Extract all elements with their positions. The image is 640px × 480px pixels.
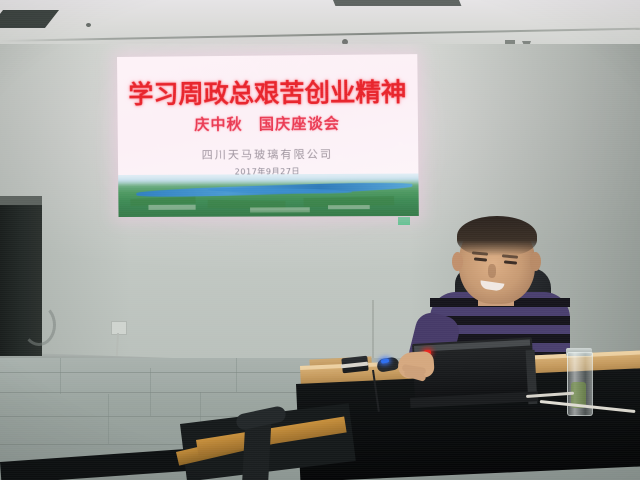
ceiling-vent-right-icon <box>331 0 462 6</box>
hair <box>457 216 537 256</box>
floor-plank-joint <box>60 358 61 394</box>
ear-right <box>530 252 541 271</box>
ceiling-mark <box>86 23 91 27</box>
floor-plank-joint <box>236 358 237 392</box>
photo-field-light <box>148 205 196 210</box>
cabinet-top-edge <box>0 196 42 205</box>
slide-company-name: 四川天马玻璃有限公司 <box>118 145 418 163</box>
slide-content: 学习周政总艰苦创业精神 庆中秋 国庆座谈会 四川天马玻璃有限公司 2017年9月… <box>117 54 419 217</box>
photo-scene: 学习周政总艰苦创业精神 庆中秋 国庆座谈会 四川天马玻璃有限公司 2017年9月… <box>0 0 640 480</box>
photo-field-light <box>328 205 370 209</box>
cabinet-ring-handle <box>22 304 56 346</box>
floor-plank-joint <box>108 394 109 444</box>
nose <box>488 264 496 278</box>
projection-screen: 学习周政总艰苦创业精神 庆中秋 国庆座谈会 四川天马玻璃有限公司 2017年9月… <box>117 54 419 217</box>
wall-seam <box>372 300 374 362</box>
photo-foreground <box>118 210 418 217</box>
green-wall-sticker <box>398 217 410 225</box>
slide-aerial-photo <box>118 173 419 217</box>
floor-plank-joint <box>150 368 151 416</box>
slide-subtitle: 庆中秋 国庆座谈会 <box>118 112 418 135</box>
ear-left <box>452 252 463 271</box>
slide-title: 学习周政总艰苦创业精神 <box>117 72 418 111</box>
